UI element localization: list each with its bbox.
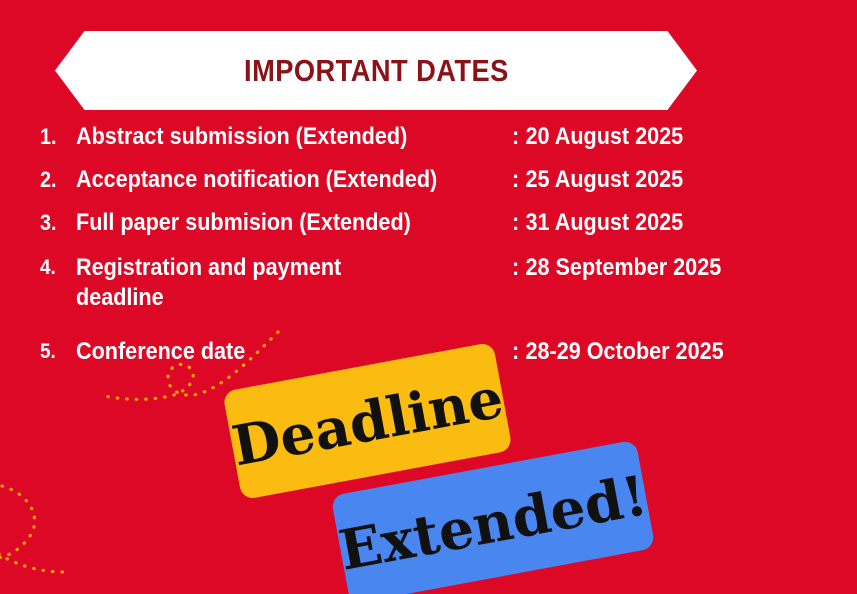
date-text: 25 August 2025 [526,166,684,193]
date-row: 4. Registration and payment deadline :28… [40,253,830,313]
important-dates-banner: IMPORTANT DATES [55,31,697,110]
dotted-swirl-lower-icon [0,480,110,590]
date-text: 20 August 2025 [526,123,684,150]
separator-colon: : [512,123,519,150]
list-item-label: Acceptance notification (Extended) [76,165,468,195]
date-text: 28 September 2025 [526,254,722,281]
separator-colon: : [512,209,519,236]
date-text: 28-29 October 2025 [526,338,724,365]
important-dates-poster: IMPORTANT DATES 1. Abstract submission (… [0,0,857,594]
page-title: IMPORTANT DATES [244,53,509,89]
list-item-label: Registration and payment deadline [76,253,468,313]
list-item-label-line1: Full paper submision (Extended) [76,209,411,236]
list-item-date: :20 August 2025 [512,122,798,152]
list-item-label-line1: Acceptance notification (Extended) [76,166,437,193]
separator-colon: : [512,338,519,365]
separator-colon: : [512,254,519,281]
date-row: 3. Full paper submision (Extended) :31 A… [40,208,830,238]
list-item-label: Full paper submision (Extended) [76,208,468,238]
list-item-date: :28 September 2025 [512,253,798,283]
separator-colon: : [512,166,519,193]
list-item-number: 4. [40,253,72,283]
important-dates-list: 1. Abstract submission (Extended) :20 Au… [40,118,830,375]
list-item-label-line1: Abstract submission (Extended) [76,123,407,150]
list-item-label-line1: Registration and payment [76,254,341,281]
list-item-label-line2: deadline [76,283,468,313]
date-row: 2. Acceptance notification (Extended) :2… [40,165,830,195]
list-item-date: :25 August 2025 [512,165,798,195]
list-item-number: 5. [40,337,72,367]
date-row: 1. Abstract submission (Extended) :20 Au… [40,122,830,152]
list-item-label: Abstract submission (Extended) [76,122,468,152]
list-item-number: 1. [40,122,72,152]
list-item-date: :31 August 2025 [512,208,798,238]
list-item-number: 2. [40,165,72,195]
date-text: 31 August 2025 [526,209,684,236]
list-item-label-line1: Conference date [76,338,245,365]
list-item-number: 3. [40,208,72,238]
list-item-date: :28-29 October 2025 [512,337,798,367]
